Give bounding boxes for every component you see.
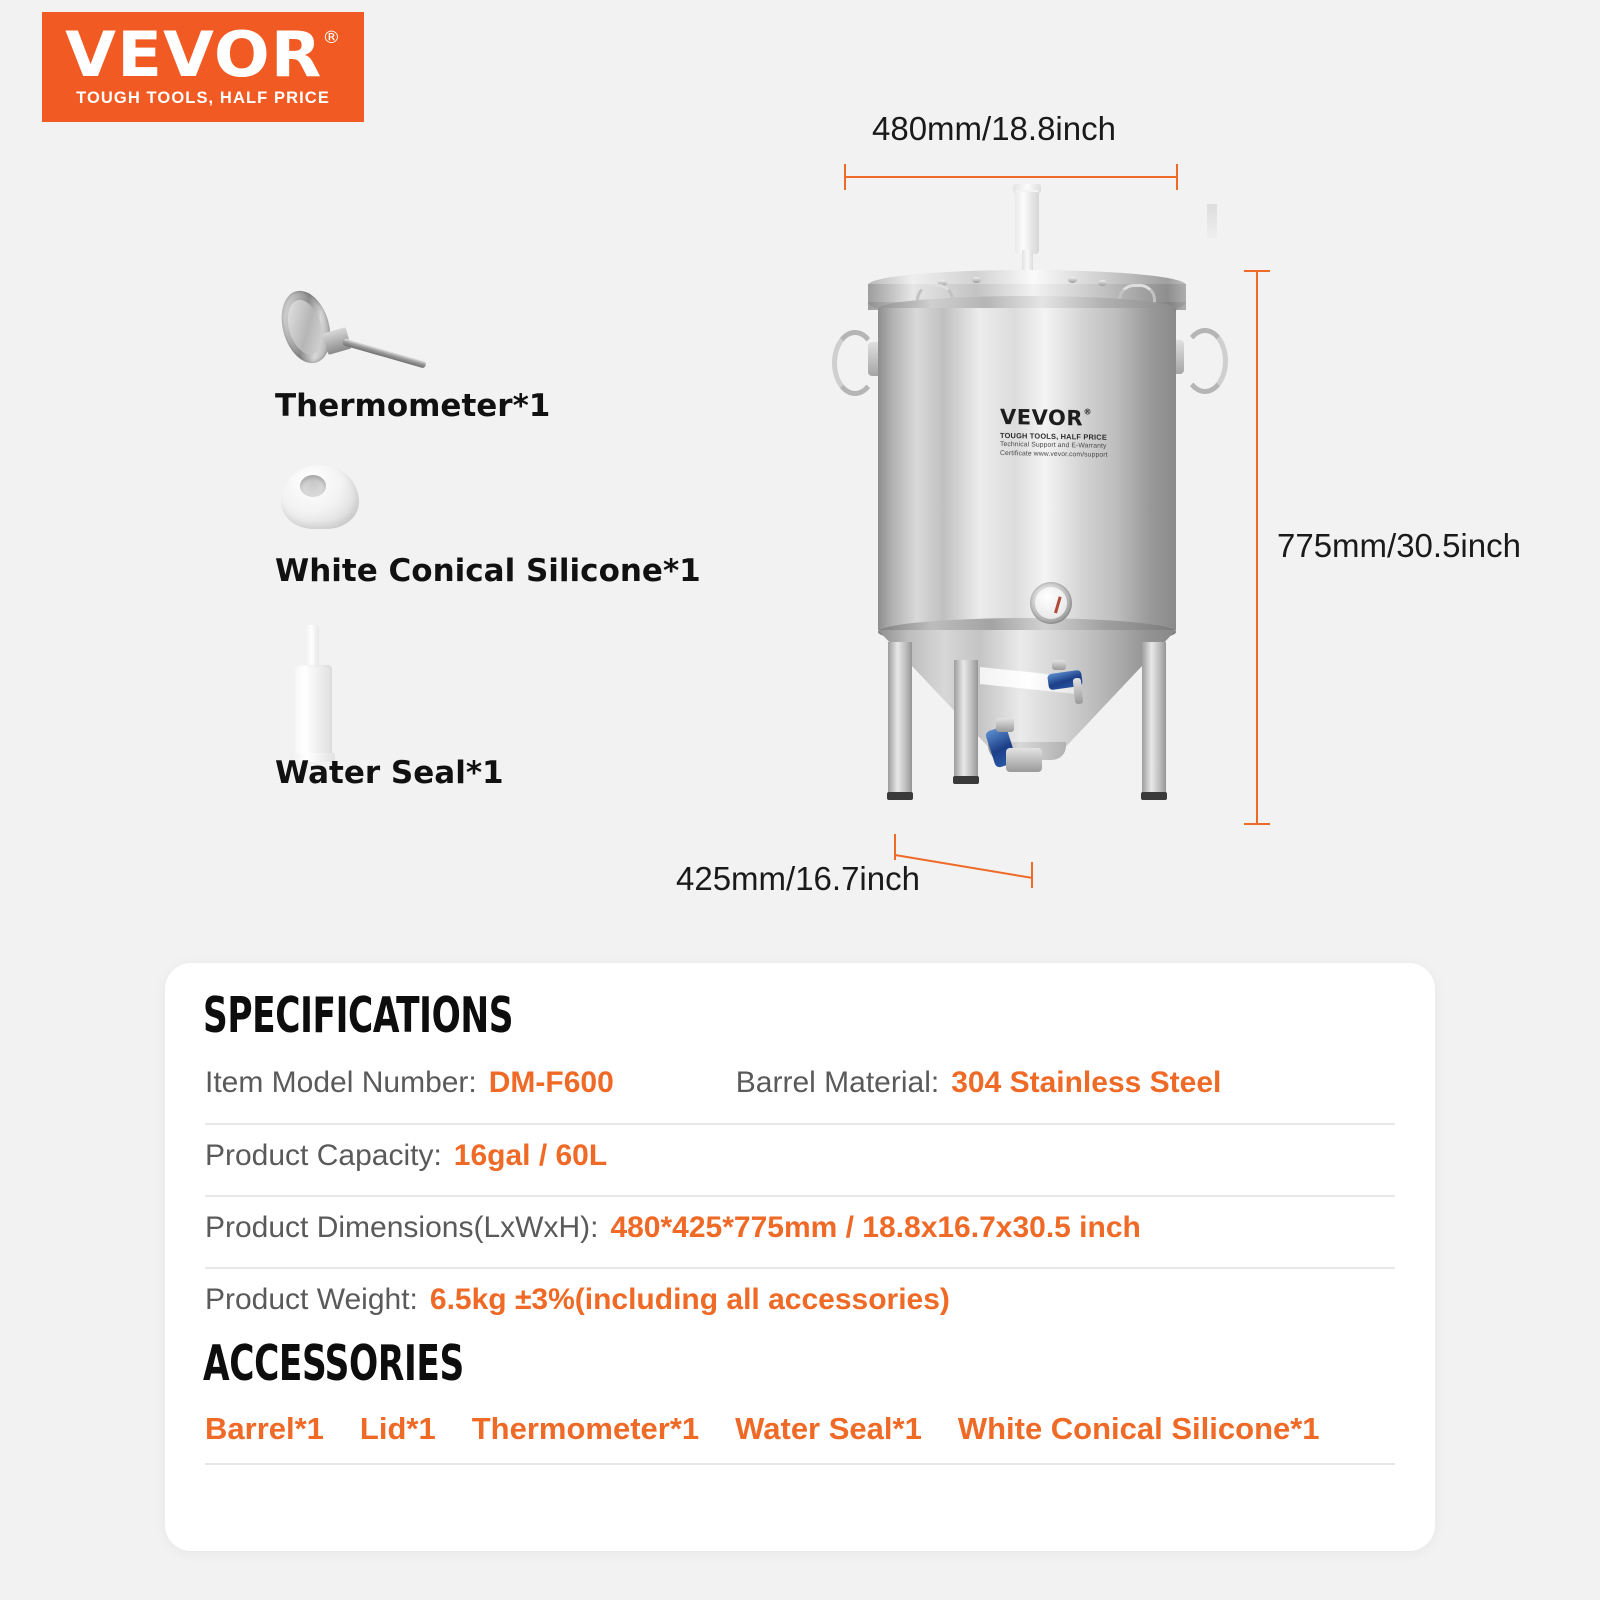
accessory-silicone <box>281 465 371 537</box>
spec-divider <box>205 1123 1395 1125</box>
accessory-water-seal <box>280 625 360 770</box>
product-image-fermenter: VEVOR® TOUGH TOOLS, HALF PRICE Technical… <box>830 190 1250 830</box>
logo-wordmark: VEVOR ® <box>65 26 341 85</box>
thermometer-icon <box>283 286 483 376</box>
accessory-list-item: Water Seal*1 <box>735 1411 922 1447</box>
accessory-thermometer-label: Thermometer*1 <box>275 388 550 424</box>
spec-key: Product Capacity: <box>205 1139 442 1173</box>
barrel-print-block: VEVOR® TOUGH TOOLS, HALF PRICE Technical… <box>1000 407 1120 460</box>
accessories-divider <box>205 1463 1395 1465</box>
conical-bottom <box>878 630 1176 750</box>
spec-key: Product Dimensions(LxWxH): <box>205 1211 598 1245</box>
leg-foot-back <box>953 776 979 784</box>
leg-back <box>954 660 978 778</box>
page-root: VEVOR ® TOUGH TOOLS, HALF PRICE Thermome… <box>0 0 1600 1600</box>
spec-divider <box>205 1195 1395 1197</box>
spec-item-product-capacity: Product Capacity: 16gal / 60L <box>205 1139 607 1173</box>
accessory-water-seal-label: Water Seal*1 <box>275 755 504 791</box>
spec-item-model-number: Item Model Number: DM-F600 <box>205 1066 614 1100</box>
spec-key: Barrel Material: <box>736 1066 939 1100</box>
accessory-list-item: Barrel*1 <box>205 1411 324 1447</box>
leg-foot-left <box>887 792 913 800</box>
vevor-logo: VEVOR ® TOUGH TOOLS, HALF PRICE <box>42 12 364 122</box>
lid-rivet <box>972 277 981 283</box>
registered-trademark-icon: ® <box>322 30 341 46</box>
temperature-gauge-icon <box>1030 582 1072 624</box>
dimension-tick <box>894 834 896 860</box>
specifications-card: SPECIFICATIONS Item Model Number: DM-F60… <box>165 963 1435 1551</box>
barrel-body <box>878 308 1176 630</box>
leg-foot-right <box>1141 792 1167 800</box>
lid-rivet <box>1098 280 1107 286</box>
drain-valve-body <box>996 718 1014 732</box>
barrel-print-word: VEVOR® <box>1000 407 1083 429</box>
spec-row: Item Model Number: DM-F600 Barrel Materi… <box>205 1066 1395 1100</box>
spec-value: DM-F600 <box>489 1066 614 1100</box>
dimension-width-top-label: 480mm/18.8inch <box>872 110 1116 148</box>
accessory-list-item: White Conical Silicone*1 <box>958 1411 1320 1447</box>
spec-value: 6.5kg ±3%(including all accessories) <box>430 1283 950 1317</box>
dimension-tick <box>844 164 846 190</box>
silicone-bung-icon <box>281 465 371 537</box>
specifications-heading: SPECIFICATIONS <box>203 987 513 1044</box>
spec-item-barrel-material: Barrel Material: 304 Stainless Steel <box>736 1066 1222 1100</box>
spec-value: 480*425*775mm / 18.8x16.7x30.5 inch <box>610 1211 1140 1245</box>
water-seal-icon <box>280 625 360 770</box>
logo-tagline: TOUGH TOOLS, HALF PRICE <box>76 89 330 108</box>
accessory-list-item: Lid*1 <box>360 1411 436 1447</box>
leg-left <box>888 642 912 794</box>
sampling-valve-body <box>1052 660 1066 670</box>
spec-divider <box>205 1267 1395 1269</box>
lid-rivet <box>1068 277 1077 283</box>
dimension-height-label: 775mm/30.5inch <box>1277 527 1521 565</box>
spec-value: 304 Stainless Steel <box>951 1066 1221 1100</box>
spec-item-product-dimensions: Product Dimensions(LxWxH): 480*425*775mm… <box>205 1211 1141 1245</box>
dimension-width-bottom-label: 425mm/16.7inch <box>676 860 920 898</box>
accessories-list: Barrel*1 Lid*1 Thermometer*1 Water Seal*… <box>205 1411 1320 1447</box>
logo-word-text: VEVOR <box>65 18 322 91</box>
spec-key: Product Weight: <box>205 1283 418 1317</box>
dimension-width-top-line <box>845 176 1177 178</box>
airlock-icon <box>1015 190 1039 254</box>
leg-right <box>1142 642 1166 794</box>
accessories-heading: ACCESSORIES <box>203 1335 464 1392</box>
dimension-tick <box>1176 164 1178 190</box>
accessory-list-item: Thermometer*1 <box>472 1411 699 1447</box>
dimension-tick <box>1031 862 1033 888</box>
dimension-height-line <box>1256 271 1258 824</box>
drain-valve-outlet <box>1006 748 1042 772</box>
spec-item-product-weight: Product Weight: 6.5kg ±3%(including all … <box>205 1283 950 1317</box>
spec-value: 16gal / 60L <box>454 1139 607 1173</box>
accessory-silicone-label: White Conical Silicone*1 <box>275 553 701 589</box>
accessory-thermometer <box>283 286 483 376</box>
spec-key: Item Model Number: <box>205 1066 477 1100</box>
